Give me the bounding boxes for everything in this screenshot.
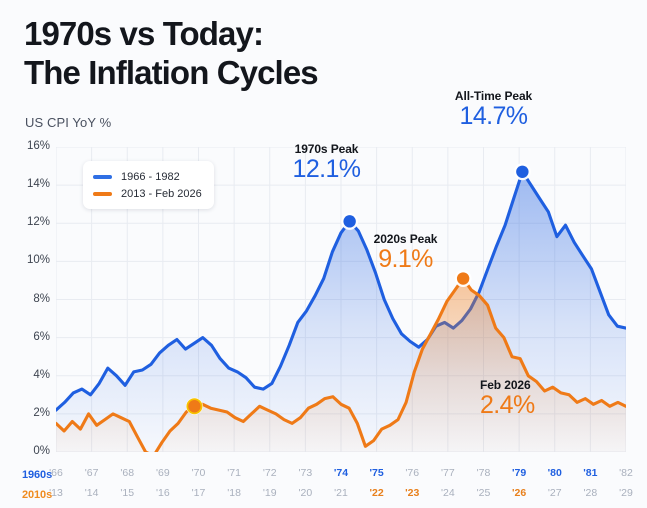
x-axis-tick: '67	[85, 467, 99, 479]
x-axis-tick: '82	[619, 467, 633, 479]
annotation-feb-2026-value: 2.4%	[480, 391, 620, 420]
legend-label-2: 2013 - Feb 2026	[121, 188, 202, 200]
x-axis-tick: '81	[583, 467, 597, 479]
y-axis-tick: 8%	[10, 293, 50, 305]
annotation-2020s-peak-label: 2020s Peak	[318, 232, 493, 246]
annotation-1970s-peak: 1970s Peak 12.1%	[239, 142, 414, 184]
x-axis-tick: '75	[370, 467, 384, 479]
x-axis-tick: '70	[192, 467, 206, 479]
x-axis-tick: '23	[405, 487, 419, 499]
legend-swatch-orange	[93, 192, 112, 196]
legend-item-1[interactable]: 1966 - 1982	[93, 168, 202, 185]
x-axis-tick: '15	[120, 487, 134, 499]
x-axis-tick: '29	[619, 487, 633, 499]
x-axis-tick: '17	[192, 487, 206, 499]
chart-legend[interactable]: 1966 - 1982 2013 - Feb 2026	[83, 161, 214, 209]
x-axis-tick: '22	[370, 487, 384, 499]
y-axis-tick: 14%	[10, 178, 50, 190]
x-axis-tick: '66	[49, 467, 63, 479]
x-axis-tick: '69	[156, 467, 170, 479]
infographic-root: 1970s vs Today: The Inflation Cycles US …	[0, 0, 647, 508]
x-axis-tick: '76	[405, 467, 419, 479]
annotation-feb-2026-label: Feb 2026	[480, 378, 620, 392]
title-line-1: 1970s vs Today:	[24, 14, 318, 53]
annotation-feb-2026: Feb 2026 2.4%	[480, 378, 620, 420]
y-axis-tick: 4%	[10, 369, 50, 381]
y-axis-tick: 0%	[10, 445, 50, 457]
x-axis-tick: '26	[512, 487, 526, 499]
x-axis-tick: '18	[227, 487, 241, 499]
y-axis-tick: 10%	[10, 254, 50, 266]
y-axis: 0%2%4%6%8%10%12%14%16%	[8, 147, 50, 452]
x-axis-tick: '77	[441, 467, 455, 479]
x-axis-row-2010s: '13'14'15'16'17'18'19'20'21'22'23'24'25'…	[0, 487, 647, 505]
x-axis-tick: '19	[263, 487, 277, 499]
x-axis-tick: '79	[512, 467, 526, 479]
x-axis-tick: '28	[584, 487, 598, 499]
x-axis-tick: '27	[548, 487, 562, 499]
x-axis-tick: '73	[299, 467, 313, 479]
x-axis-tick: '14	[85, 487, 99, 499]
annotation-all-time-peak: All-Time Peak 14.7%	[406, 89, 581, 131]
legend-item-2[interactable]: 2013 - Feb 2026	[93, 185, 202, 202]
x-axis-tick: '68	[120, 467, 134, 479]
title-line-2: The Inflation Cycles	[24, 53, 318, 92]
x-axis-tick: '24	[441, 487, 455, 499]
annotation-2020s-peak-value: 9.1%	[318, 245, 493, 274]
x-axis-tick: '71	[227, 467, 241, 479]
legend-swatch-blue	[93, 175, 112, 179]
x-axis-tick: '80	[548, 467, 562, 479]
y-axis-tick: 16%	[10, 140, 50, 152]
y-axis-tick: 2%	[10, 407, 50, 419]
x-axis-tick: '16	[156, 487, 170, 499]
legend-label-1: 1966 - 1982	[121, 171, 180, 183]
annotation-1970s-peak-value: 12.1%	[239, 155, 414, 184]
annotation-all-time-peak-value: 14.7%	[406, 102, 581, 131]
x-axis-tick: '21	[334, 487, 348, 499]
y-axis-tick: 6%	[10, 331, 50, 343]
x-axis-tick: '78	[477, 467, 491, 479]
y-axis-tick: 12%	[10, 216, 50, 228]
annotation-all-time-peak-label: All-Time Peak	[406, 89, 581, 103]
x-axis-tick: '74	[334, 467, 348, 479]
x-axis-tick: '20	[299, 487, 313, 499]
annotation-1970s-peak-label: 1970s Peak	[239, 142, 414, 156]
annotation-2020s-peak: 2020s Peak 9.1%	[318, 232, 493, 274]
x-axis-tick: '72	[263, 467, 277, 479]
x-axis-tick: '13	[49, 487, 63, 499]
chart-subtitle: US CPI YoY %	[25, 115, 111, 130]
x-axis-row-1960s: '66'67'68'69'70'71'72'73'74'75'76'77'78'…	[0, 467, 647, 485]
x-axis-tick: '25	[477, 487, 491, 499]
page-title: 1970s vs Today: The Inflation Cycles	[24, 14, 318, 92]
x-axis: 1960s 2010s '66'67'68'69'70'71'72'73'74'…	[0, 463, 647, 508]
